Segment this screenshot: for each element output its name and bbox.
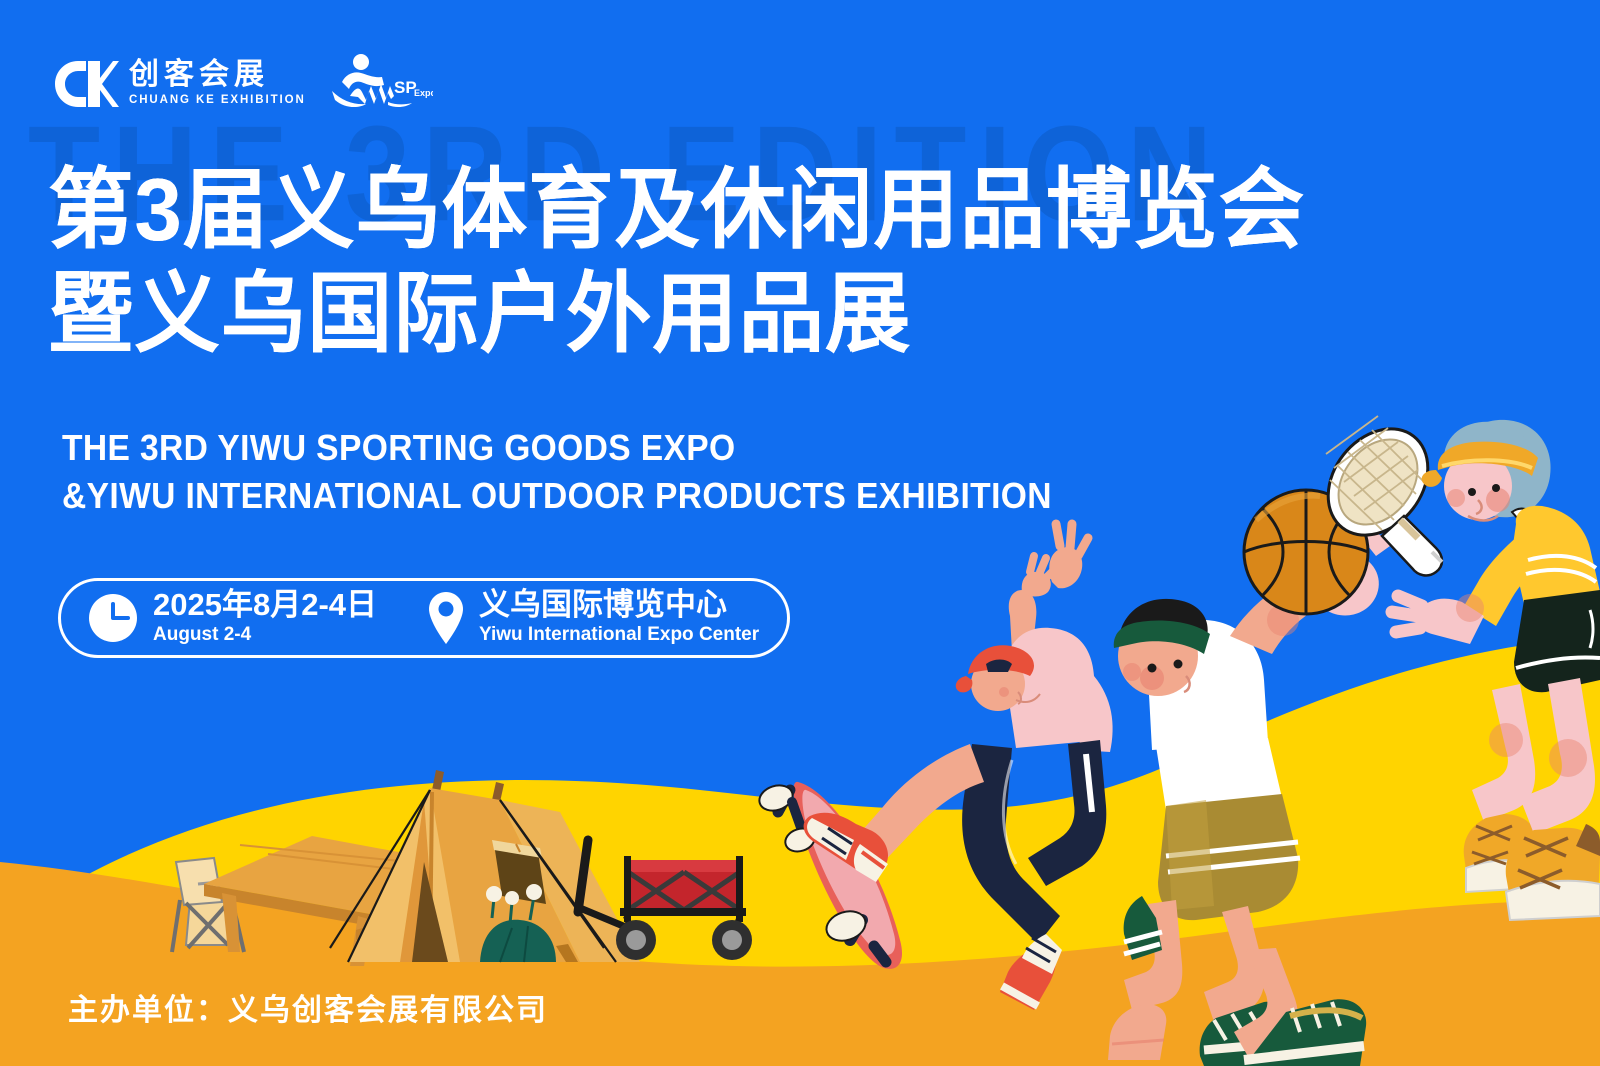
venue-en: Yiwu International Expo Center (479, 624, 759, 647)
subtitle-line-1: THE 3RD YIWU SPORTING GOODS EXPO (62, 424, 1052, 472)
sp-expo-figure-icon: SP Expo (328, 52, 433, 110)
event-info-pill: 2025年8月2-4日 August 2-4 义乌国际博览中心 Yiwu Int… (58, 578, 790, 658)
date-en: August 2-4 (153, 624, 377, 647)
title-line-2: 暨义乌国际户外用品展 (48, 262, 1305, 366)
primary-logo-text: 创客会展 CHUANG KE EXHIBITION (129, 59, 306, 109)
venue-texts: 义乌国际博览中心 Yiwu International Expo Center (479, 589, 759, 647)
organizer-text: 主办单位：义乌创客会展有限公司 (68, 985, 548, 1029)
secondary-logo[interactable]: SP Expo (328, 52, 433, 115)
header-logos: 创客会展 CHUANG KE EXHIBITION SP Expo (55, 52, 433, 115)
svg-text:Expo: Expo (414, 88, 433, 98)
venue-info: 义乌国际博览中心 Yiwu International Expo Center (427, 589, 759, 647)
map-pin-icon (427, 591, 465, 645)
title-line-1: 第3届义乌体育及休闲用品博览会 (48, 158, 1305, 262)
ck-monogram-icon (55, 61, 119, 107)
subtitle: THE 3RD YIWU SPORTING GOODS EXPO &YIWU I… (62, 424, 1138, 520)
date-cn: 2025年8月2-4日 (153, 589, 377, 622)
primary-logo-name-en: CHUANG KE EXHIBITION (129, 92, 306, 108)
date-info: 2025年8月2-4日 August 2-4 (87, 589, 377, 647)
date-texts: 2025年8月2-4日 August 2-4 (153, 589, 377, 647)
venue-cn: 义乌国际博览中心 (479, 589, 759, 622)
primary-logo-name-cn: 创客会展 (129, 59, 306, 91)
primary-logo[interactable]: 创客会展 CHUANG KE EXHIBITION (55, 59, 306, 109)
main-title: 第3届义乌体育及休闲用品博览会 暨义乌国际户外用品展 (48, 158, 1344, 366)
clock-icon (87, 592, 139, 644)
subtitle-line-2: &YIWU INTERNATIONAL OUTDOOR PRODUCTS EXH… (62, 472, 1052, 520)
banner-canvas: THE 3RD EDITION 创客会展 CHUANG KE EXHIBITIO… (0, 0, 1600, 1066)
